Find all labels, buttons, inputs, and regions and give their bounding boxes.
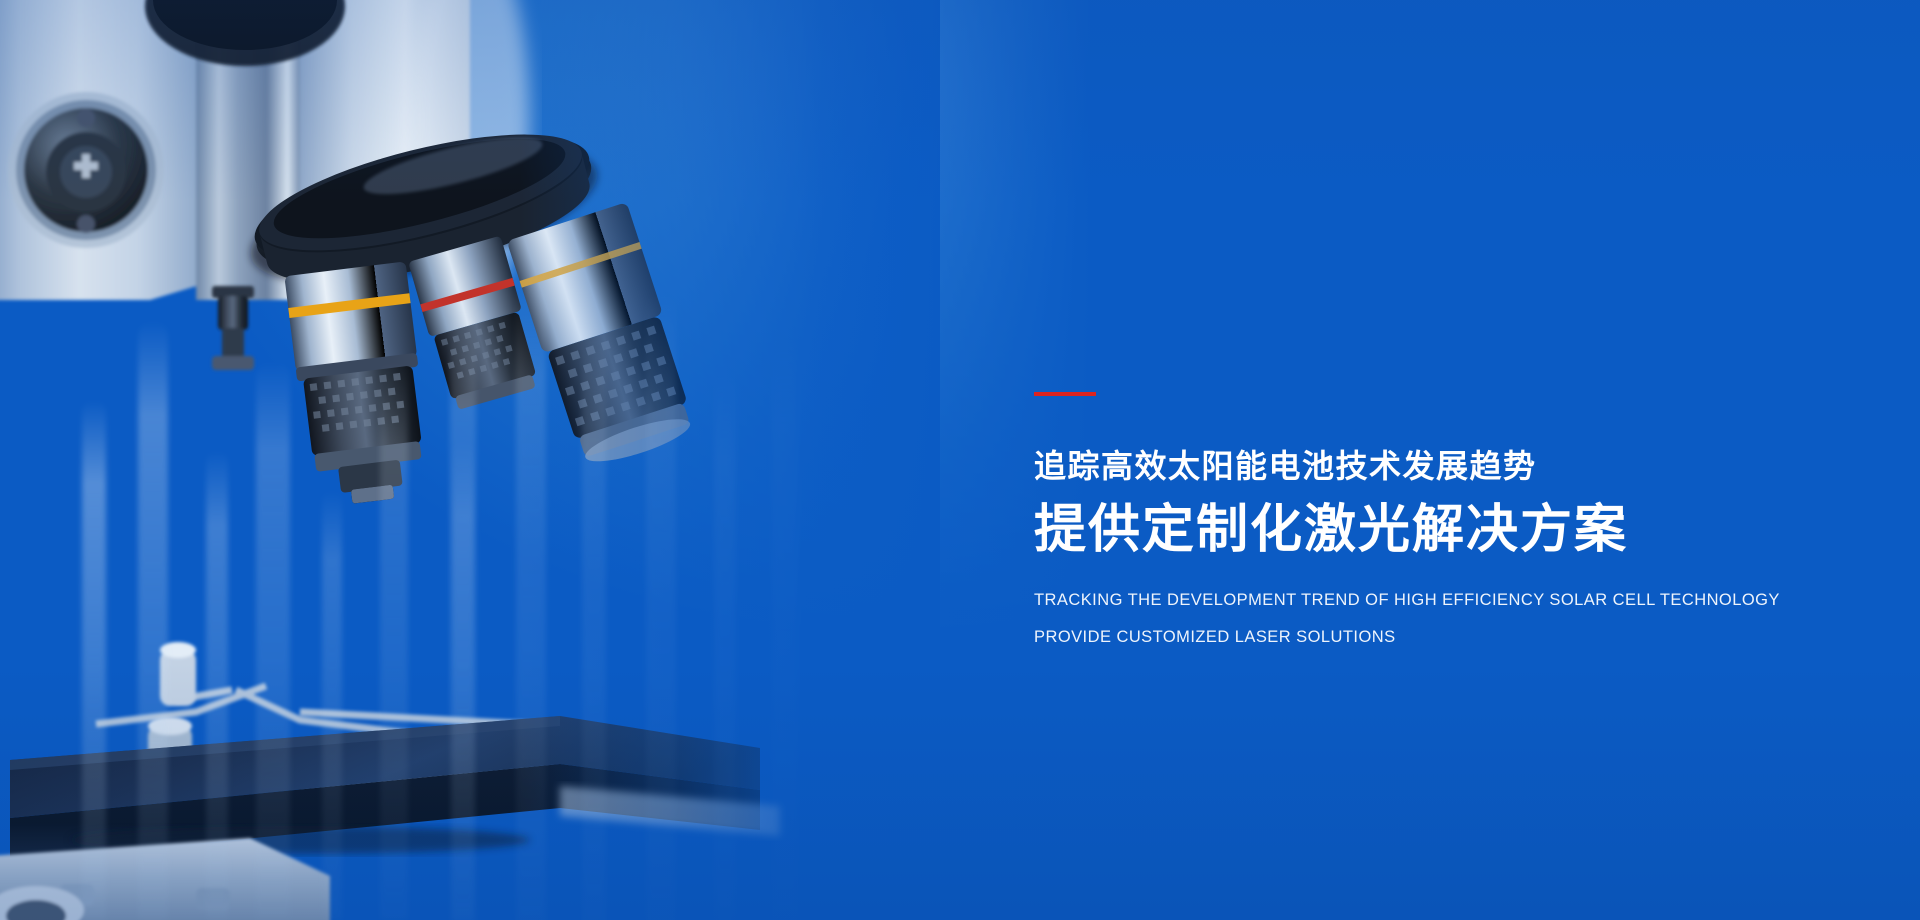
headline-secondary: 提供定制化激光解决方案 (1034, 504, 1834, 556)
headline-primary: 追踪高效太阳能电池技术发展趋势 (1034, 450, 1834, 482)
subtitle-line-2: PROVIDE CUSTOMIZED LASER SOLUTIONS (1034, 629, 1834, 646)
subtitle-line-1: TRACKING THE DEVELOPMENT TREND OF HIGH E… (1034, 592, 1834, 609)
hero-banner: 追踪高效太阳能电池技术发展趋势 提供定制化激光解决方案 TRACKING THE… (0, 0, 1920, 920)
banner-copy: 追踪高效太阳能电池技术发展趋势 提供定制化激光解决方案 TRACKING THE… (1034, 392, 1834, 645)
accent-rule (1034, 392, 1096, 396)
